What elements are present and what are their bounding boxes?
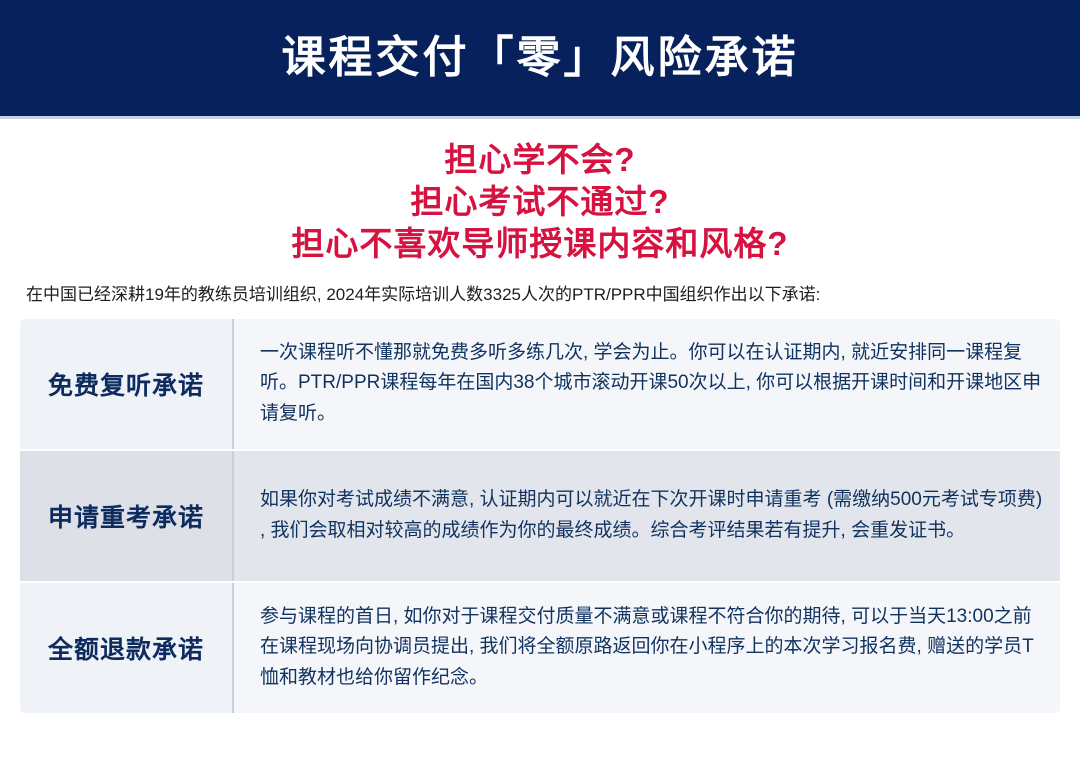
promise-table: 免费复听承诺 一次课程听不懂那就免费多听多练几次, 学会为止。你可以在认证期内,… (20, 319, 1060, 713)
promise-label-cell: 申请重考承诺 (20, 451, 232, 581)
promise-label: 免费复听承诺 (48, 366, 204, 402)
promise-body: 参与课程的首日, 如你对于课程交付质量不满意或课程不符合你的期待, 可以于当天1… (260, 602, 1046, 694)
table-row: 全额退款承诺 参与课程的首日, 如你对于课程交付质量不满意或课程不符合你的期待,… (20, 583, 1060, 713)
table-row: 申请重考承诺 如果你对考试成绩不满意, 认证期内可以就近在下次开课时申请重考 (… (20, 451, 1060, 581)
promise-label: 全额退款承诺 (48, 630, 204, 666)
promise-label-cell: 免费复听承诺 (20, 319, 232, 449)
header-banner: 课程交付「零」风险承诺 (0, 0, 1080, 116)
headline-group: 担心学不会? 担心考试不通过? 担心不喜欢导师授课内容和风格? (0, 139, 1080, 266)
promise-body: 如果你对考试成绩不满意, 认证期内可以就近在下次开课时申请重考 (需缴纳500元… (260, 485, 1046, 547)
promise-body-cell: 参与课程的首日, 如你对于课程交付质量不满意或课程不符合你的期待, 可以于当天1… (234, 583, 1060, 713)
banner-underline (0, 116, 1080, 119)
headline-line-2: 担心考试不通过? (0, 181, 1080, 223)
promise-body: 一次课程听不懂那就免费多听多练几次, 学会为止。你可以在认证期内, 就近安排同一… (260, 338, 1046, 430)
intro-text: 在中国已经深耕19年的教练员培训组织, 2024年实际培训人数3325人次的PT… (26, 280, 1080, 305)
promise-label: 申请重考承诺 (48, 498, 204, 534)
headline-line-1: 担心学不会? (0, 139, 1080, 181)
promise-body-cell: 一次课程听不懂那就免费多听多练几次, 学会为止。你可以在认证期内, 就近安排同一… (234, 319, 1060, 449)
table-row: 免费复听承诺 一次课程听不懂那就免费多听多练几次, 学会为止。你可以在认证期内,… (20, 319, 1060, 449)
promise-label-cell: 全额退款承诺 (20, 583, 232, 713)
promise-body-cell: 如果你对考试成绩不满意, 认证期内可以就近在下次开课时申请重考 (需缴纳500元… (234, 451, 1060, 581)
headline-line-3: 担心不喜欢导师授课内容和风格? (0, 223, 1080, 265)
page-title: 课程交付「零」风险承诺 (282, 36, 799, 80)
